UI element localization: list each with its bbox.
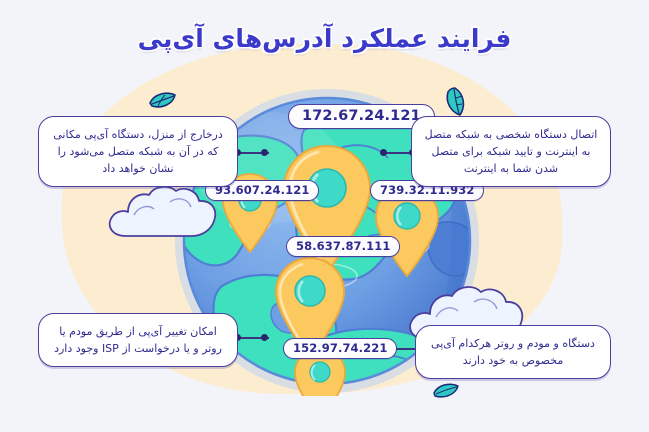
leaf-icon bbox=[432, 382, 460, 404]
ip-label-center[interactable]: 58.637.87.111 bbox=[286, 236, 400, 257]
callout-top-right[interactable]: اتصال دستگاه شخصی به شبکه متصل به اینترن… bbox=[411, 116, 611, 187]
connector-dot bbox=[261, 334, 268, 341]
page-title-container: فرایند عملکرد آدرس‌های آی‌پی bbox=[0, 24, 649, 53]
cloud-icon bbox=[104, 182, 220, 244]
leaf-icon bbox=[148, 90, 178, 114]
page-title: فرایند عملکرد آدرس‌های آی‌پی bbox=[138, 24, 512, 53]
infographic-canvas: فرایند عملکرد آدرس‌های آی‌پی bbox=[0, 0, 649, 432]
connector-dot bbox=[380, 149, 387, 156]
connector-dot bbox=[261, 149, 268, 156]
ip-label-bottom[interactable]: 152.97.74.221 bbox=[283, 338, 397, 359]
callout-bottom-left[interactable]: امکان تغییر آی‌پی از طریق مودم یا روتر و… bbox=[38, 313, 238, 367]
callout-bottom-right[interactable]: دستگاه و مودم و روتر هرکدام آی‌پی مخصوص … bbox=[415, 325, 611, 379]
callout-top-left[interactable]: درخارج از منزل، دستگاه آی‌پی مکانی که در… bbox=[38, 116, 238, 187]
